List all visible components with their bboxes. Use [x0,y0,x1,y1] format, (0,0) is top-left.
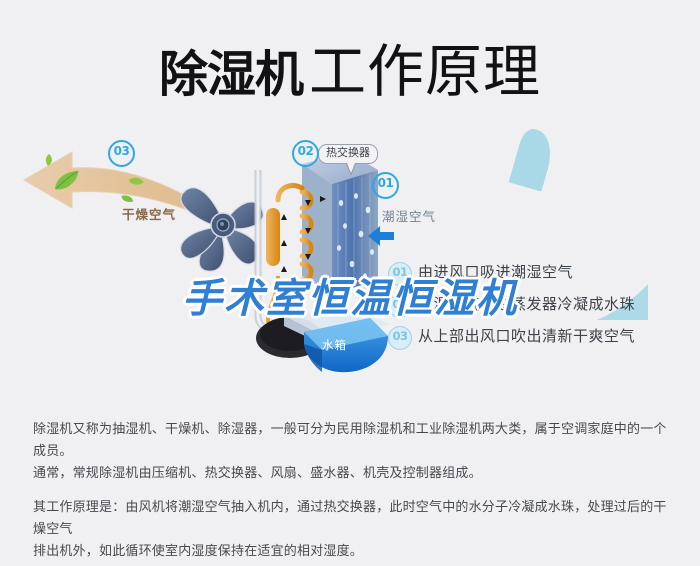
legend-item-01: 01 由进风口吸进潮湿空气 [388,260,688,292]
title-part-primary: 除湿机 [159,46,303,103]
legend-number-03: 03 [388,326,412,350]
legend-item-02: 02 潮湿空气经过蒸发器冷凝成水珠 [388,292,688,324]
callout-pointer-icon [346,164,356,176]
legend-number-02: 02 [388,294,412,318]
paragraph-2-line-2: 排出机外，如此循环使室内湿度保持在适宜的相对湿度。 [33,540,673,562]
paragraph-1-line-2: 通常，常规除湿机由压缩机、热交换器、风扇、盛水器、机壳及控制器组成。 [33,462,673,484]
leaf-icon-small [44,154,54,166]
infographic-page: 除湿机工作原理 [0,0,700,566]
page-title: 除湿机工作原理 [0,26,700,108]
legend-text-02: 潮湿空气经过蒸发器冷凝成水珠 [418,293,635,314]
label-humid-air: 潮湿空气 [382,206,436,225]
paragraph-spacer [33,484,673,496]
label-dry-air: 干燥空气 [122,204,176,223]
title-part-secondary: 工作原理 [309,39,541,105]
diagram-badge-03: 03 [108,140,135,167]
paragraph-1-line-1: 除湿机又称为抽湿机、干燥机、除湿器，一般可分为民用除湿机和工业除湿机两大类，属于… [33,418,673,462]
paragraph-2-line-1: 其工作原理是：由风机将潮湿空气抽入机内，通过热交换器，此时空气中的水分子冷凝成水… [33,496,673,540]
legend-number-01: 01 [388,262,412,286]
label-water-tank: 水箱 [322,337,347,353]
heat-exchanger-callout: 热交换器 [318,144,378,164]
body-copy: 除湿机又称为抽湿机、干燥机、除湿器，一般可分为民用除湿机和工业除湿机两大类，属于… [33,418,673,562]
diagram-badge-02: 02 [292,140,319,167]
diagram-badge-01: 01 [372,172,399,199]
legend-list: 01 由进风口吸进潮湿空气 02 潮湿空气经过蒸发器冷凝成水珠 03 从上部出风… [388,260,688,356]
legend-text-01: 由进风口吸进潮湿空气 [418,261,573,282]
legend-item-03: 03 从上部出风口吹出清新干爽空气 [388,324,688,356]
legend-text-03: 从上部出风口吹出清新干爽空气 [418,325,635,346]
